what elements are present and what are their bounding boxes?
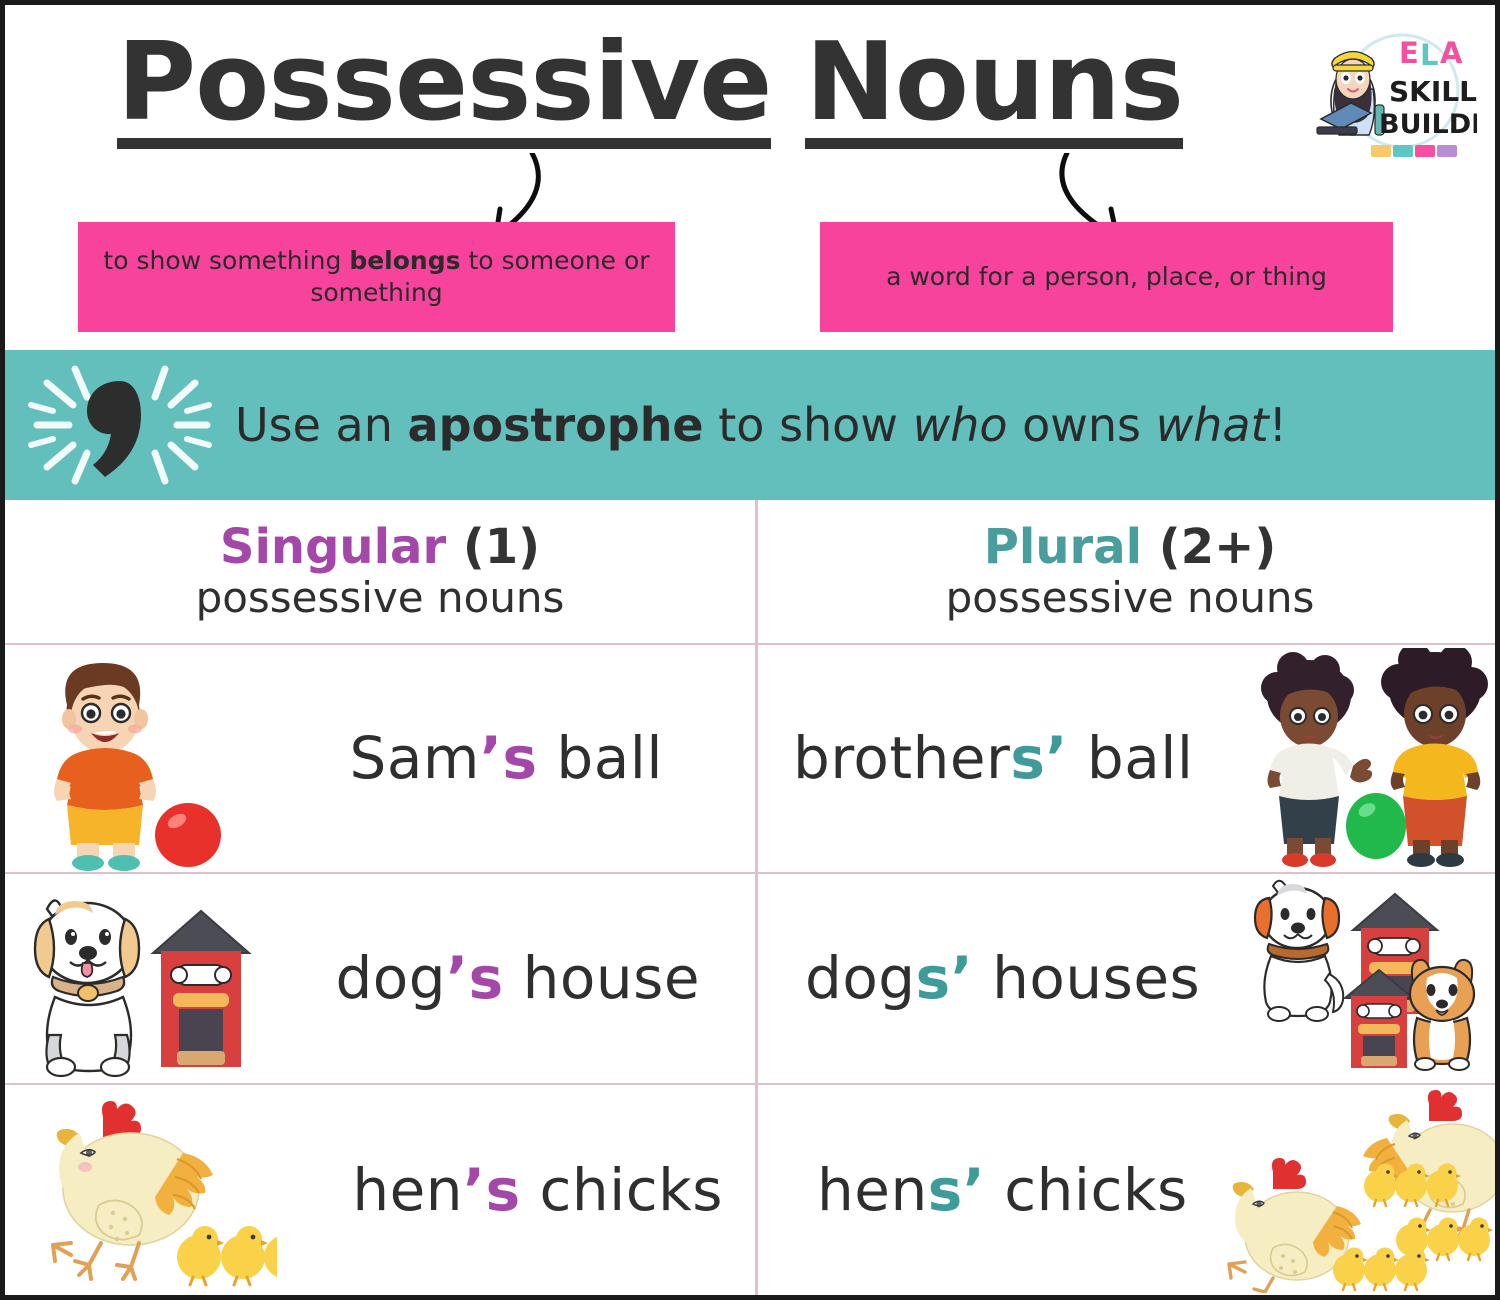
banner-text: Use an apostrophe to show who owns what! — [235, 398, 1287, 452]
phrase-pre: brother — [793, 724, 1010, 792]
phrase-post: chicks — [985, 1156, 1187, 1224]
phrase-dogs-houses: dogs’ houses — [805, 944, 1200, 1012]
two-hens-with-many-chicks-icon — [1215, 1088, 1495, 1293]
phrase-post: chicks — [521, 1156, 723, 1224]
possessive-marker: s’ — [1010, 724, 1068, 792]
ela-skill-builder-logo: E L A SKILL BUILDER — [1307, 23, 1477, 173]
banner-part1: Use an — [235, 398, 408, 452]
svg-text:L: L — [1420, 38, 1438, 72]
boy-with-red-ball-icon — [25, 653, 225, 871]
column-header-plural: Plural (2+) possessive nouns — [755, 500, 1500, 643]
apostrophe-icon — [25, 353, 215, 497]
banner-part4: ! — [1269, 398, 1287, 452]
possessive-marker: s’ — [928, 1156, 986, 1224]
logo-line-builder: BUILDER — [1379, 109, 1477, 140]
page-title: PossessiveNouns — [5, 27, 1295, 143]
apostrophe-banner: Use an apostrophe to show who owns what! — [5, 350, 1495, 500]
phrase-pre: dog — [805, 944, 916, 1012]
hen-with-three-chicks-icon — [27, 1095, 277, 1291]
possessive-marker: s’ — [916, 944, 974, 1012]
phrase-hens-plural-chicks: hens’ chicks — [817, 1156, 1188, 1224]
definition-left-bold: belongs — [349, 246, 460, 275]
phrase-post: houses — [973, 944, 1200, 1012]
poster-root: PossessiveNouns E L A SKILL — [0, 0, 1500, 1300]
phrase-pre: dog — [335, 944, 446, 1012]
possessive-marker: ’s — [446, 944, 504, 1012]
possessive-marker: ’s — [463, 1156, 521, 1224]
phrase-post: house — [504, 944, 700, 1012]
singular-count: (1) — [463, 519, 540, 575]
banner-bold-apostrophe: apostrophe — [408, 398, 704, 452]
plural-subtitle: possessive nouns — [946, 575, 1315, 621]
singular-keyword: Singular — [220, 519, 446, 575]
banner-italic-what: what — [1156, 398, 1269, 452]
phrase-pre: Sam — [350, 724, 480, 792]
title-word-possessive: Possessive — [117, 27, 771, 143]
definition-right-text: a word for a person, place, or thing — [886, 261, 1327, 293]
plural-count: (2+) — [1159, 519, 1277, 575]
two-dogs-with-doghouses-icon — [1227, 878, 1492, 1081]
logo-line-skill: SKILL — [1389, 75, 1477, 108]
banner-part2: to show — [704, 398, 913, 452]
title-word-nouns: Nouns — [805, 27, 1183, 143]
plural-keyword: Plural — [984, 519, 1142, 575]
singular-subtitle: possessive nouns — [196, 575, 565, 621]
phrase-post: ball — [537, 724, 663, 792]
phrase-brothers-ball: brothers’ ball — [793, 724, 1194, 792]
dog-with-doghouse-icon — [19, 885, 261, 1080]
phrase-sams-ball: Sam’s ball — [350, 724, 663, 792]
header: PossessiveNouns E L A SKILL — [5, 5, 1495, 350]
phrase-post: ball — [1068, 724, 1194, 792]
phrase-pre: hen — [352, 1156, 463, 1224]
phrase-hens-chicks: hen’s chicks — [352, 1156, 723, 1224]
phrase-pre: hen — [817, 1156, 928, 1224]
column-header-singular: Singular (1) possessive nouns — [5, 500, 755, 643]
two-brothers-with-green-ball-icon — [1243, 648, 1495, 872]
banner-italic-who: who — [913, 398, 1008, 452]
phrase-dogs-house: dog’s house — [335, 944, 700, 1012]
definition-left-prefix: to show something — [103, 246, 349, 275]
possessive-marker: ’s — [480, 724, 538, 792]
banner-part3: owns — [1008, 398, 1156, 452]
definition-box-possessive: to show something belongs to someone or … — [78, 222, 675, 332]
possessive-noun-table: Singular (1) possessive nouns Plural (2+… — [5, 500, 1495, 1296]
definition-box-noun: a word for a person, place, or thing — [820, 222, 1393, 332]
svg-text:A: A — [1440, 36, 1463, 70]
svg-text:E: E — [1399, 36, 1419, 70]
